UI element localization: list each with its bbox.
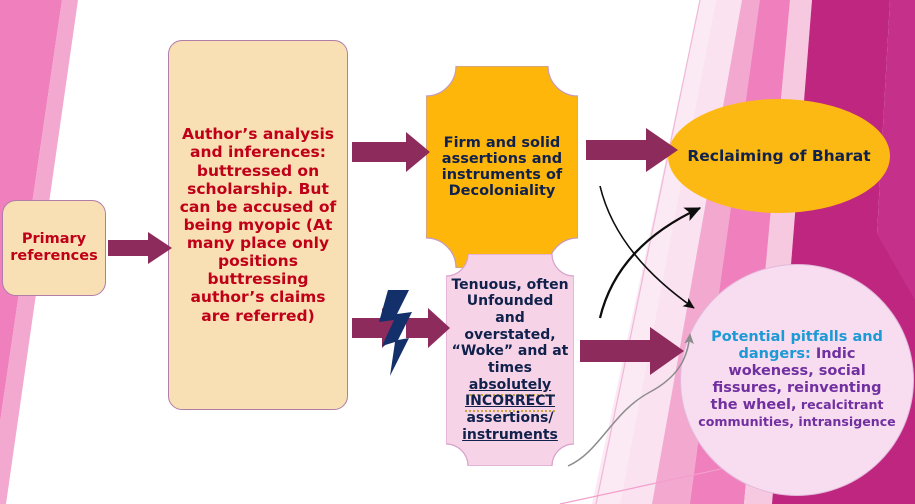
tenuous-line: times: [448, 360, 572, 377]
node-decoloniality[interactable]: Firm and solid assertions and instrument…: [426, 66, 578, 268]
node-tenuous[interactable]: Tenuous, oftenUnfoundedandoverstated,“Wo…: [446, 254, 574, 466]
tenuous-line: instruments: [448, 427, 572, 444]
node-author-analysis[interactable]: Author’s analysis and inferences: buttre…: [168, 40, 348, 410]
tenuous-line-text: Tenuous, often: [451, 277, 568, 293]
node-primary-references[interactable]: Primary references: [2, 200, 106, 296]
node-author-analysis-label: Author’s analysis and inferences: buttre…: [179, 125, 337, 324]
tenuous-line: Tenuous, often: [448, 277, 572, 294]
node-reclaiming-bharat[interactable]: Reclaiming of Bharat: [668, 99, 890, 213]
tenuous-line-text: assertions/: [466, 410, 553, 426]
tenuous-line-text: and: [495, 310, 524, 326]
node-reclaiming-bharat-label: Reclaiming of Bharat: [668, 147, 890, 165]
node-potential-pitfalls-label: Potential pitfalls and dangers: Indic wo…: [697, 329, 897, 431]
tenuous-line-text: times: [488, 360, 532, 376]
tenuous-line: absolutely: [448, 377, 572, 394]
pitfalls-heading: Potential pitfalls and dangers:: [711, 329, 883, 362]
tenuous-line-text: “Woke” and at: [452, 343, 569, 359]
node-tenuous-label: Tenuous, oftenUnfoundedandoverstated,“Wo…: [446, 254, 574, 466]
tenuous-line-text: overstated,: [464, 327, 555, 343]
node-primary-references-label: Primary references: [3, 231, 105, 265]
tenuous-line: and: [448, 310, 572, 327]
tenuous-line: Unfounded: [448, 293, 572, 310]
node-potential-pitfalls[interactable]: Potential pitfalls and dangers: Indic wo…: [680, 264, 914, 496]
tenuous-line: assertions/: [448, 410, 572, 427]
tenuous-line-text: Unfounded: [467, 293, 554, 309]
tenuous-line: INCORRECT: [448, 393, 572, 410]
tenuous-line-text: instruments: [462, 427, 558, 443]
tenuous-line: overstated,: [448, 327, 572, 344]
diagram-canvas: Primary references Author’s analysis and…: [0, 0, 915, 504]
tenuous-line: “Woke” and at: [448, 343, 572, 360]
node-decoloniality-label: Firm and solid assertions and instrument…: [426, 66, 578, 268]
